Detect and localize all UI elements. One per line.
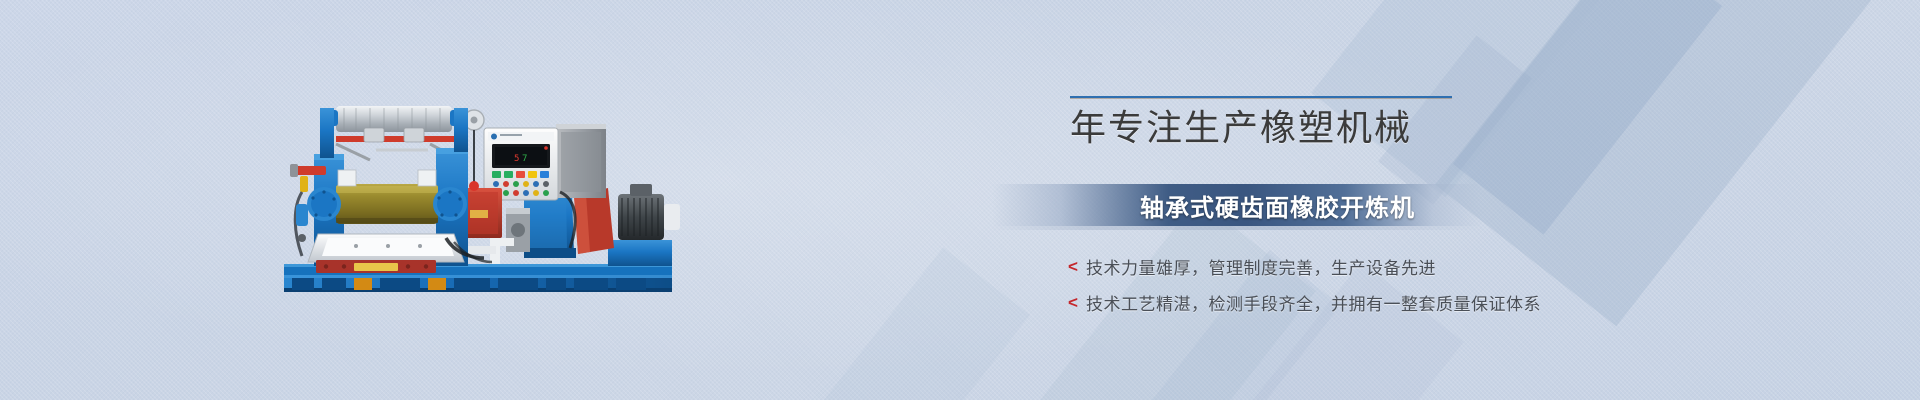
feature-text: 技术工艺精湛，检测手段齐全，并拥有一整套质量保证体系	[1086, 290, 1541, 315]
feature-text: 技术力量雄厚，管理制度完善，生产设备先进	[1086, 254, 1436, 279]
list-item: < 技术工艺精湛，检测手段齐全，并拥有一整套质量保证体系	[1068, 287, 1541, 317]
product-image: 5 7	[278, 88, 688, 308]
banner-text-block: 年专注生产橡塑机械 轴承式硬齿面橡胶开炼机 < 技术力量雄厚，管理制度完善，生产…	[1062, 96, 1562, 151]
subtitle-banner: 轴承式硬齿面橡胶开炼机	[992, 184, 1482, 226]
decorative-diagonal-shape	[820, 247, 1030, 400]
feature-list: < 技术力量雄厚，管理制度完善，生产设备先进 < 技术工艺精湛，检测手段齐全，并…	[1068, 251, 1541, 323]
svg-text:5: 5	[514, 154, 519, 164]
svg-text:7: 7	[522, 154, 527, 164]
chevron-left-icon: <	[1068, 258, 1086, 275]
page-title: 年专注生产橡塑机械	[1070, 107, 1562, 151]
headline-divider	[1070, 96, 1452, 99]
promo-banner: 5 7	[0, 0, 1920, 400]
list-item: < 技术力量雄厚，管理制度完善，生产设备先进	[1068, 251, 1541, 281]
chevron-left-icon: <	[1068, 294, 1086, 311]
subtitle-text: 轴承式硬齿面橡胶开炼机	[1140, 188, 1415, 223]
